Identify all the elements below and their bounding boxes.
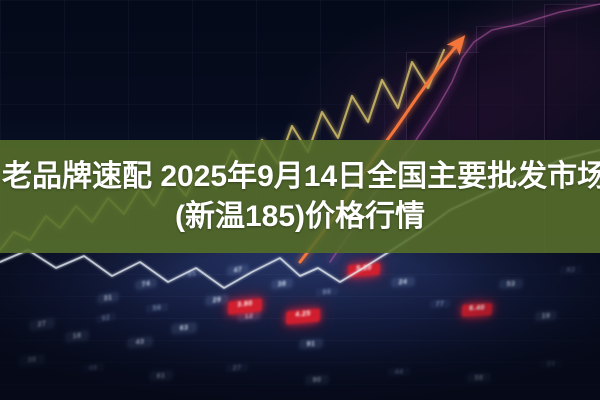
title-line-1: 老品牌速配 2025年9月14日全国主要批发市场核桃 xyxy=(0,157,600,197)
banner-image: 2718924331567463298512473.804.253866915.… xyxy=(0,0,600,400)
background-floor: 2718924331567463298512473.804.253866915.… xyxy=(0,252,600,400)
title-line-2: (新温185)价格行情 xyxy=(0,197,600,237)
floor-vignette xyxy=(0,252,600,400)
title-block: 老品牌速配 2025年9月14日全国主要批发市场核桃 (新温185)价格行情 xyxy=(0,140,600,253)
